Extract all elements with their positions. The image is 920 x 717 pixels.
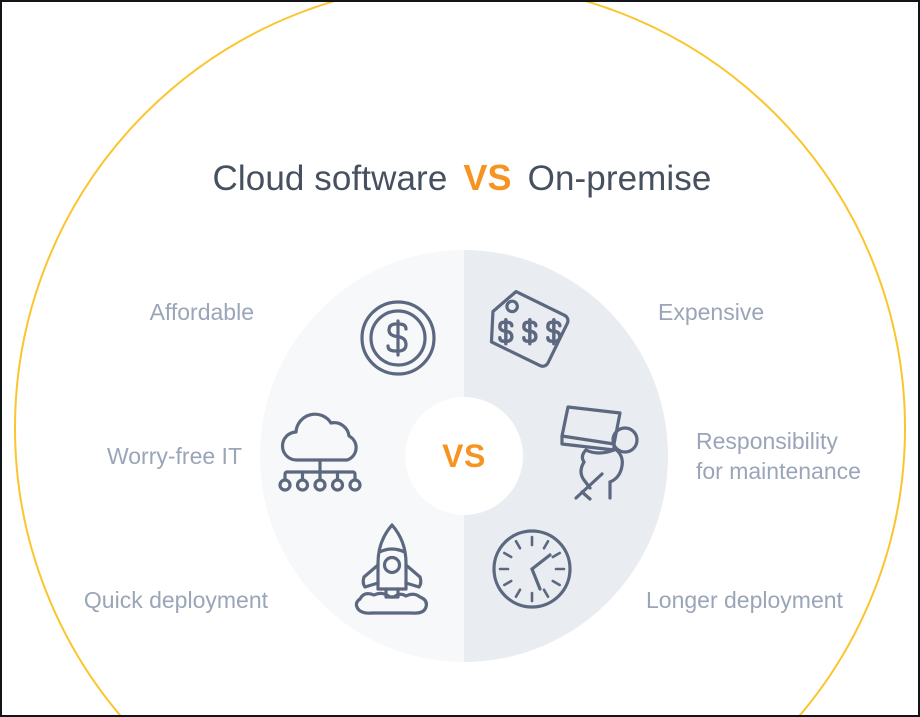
infographic-canvas: Cloud softwareVSOn-premise VS [0,0,920,717]
title-right-term: On-premise [528,159,712,198]
price-tag-dollars-icon [482,278,592,388]
cloud-network-icon [265,400,375,510]
title-vs-label: VS [463,157,511,198]
label-expensive: Expensive [658,298,764,327]
label-responsibility-for-maintenance: Responsibility for maintenance [696,427,861,487]
rocket-icon [337,514,447,624]
center-vs-label: VS [442,438,486,475]
page-title: Cloud softwareVSOn-premise [2,160,920,196]
title-left-term: Cloud software [213,159,448,198]
label-responsibility-line2: for maintenance [696,457,861,487]
donut-center-hub: VS [405,397,523,515]
label-quick-deployment: Quick deployment [84,586,268,615]
clock-icon [477,514,587,624]
person-carrying-load-icon [547,395,657,505]
label-worry-free-it: Worry-free IT [107,442,242,471]
label-longer-deployment: Longer deployment [646,586,843,615]
coin-dollar-icon [343,283,453,393]
label-affordable: Affordable [150,298,254,327]
label-responsibility-line1: Responsibility [696,427,861,457]
